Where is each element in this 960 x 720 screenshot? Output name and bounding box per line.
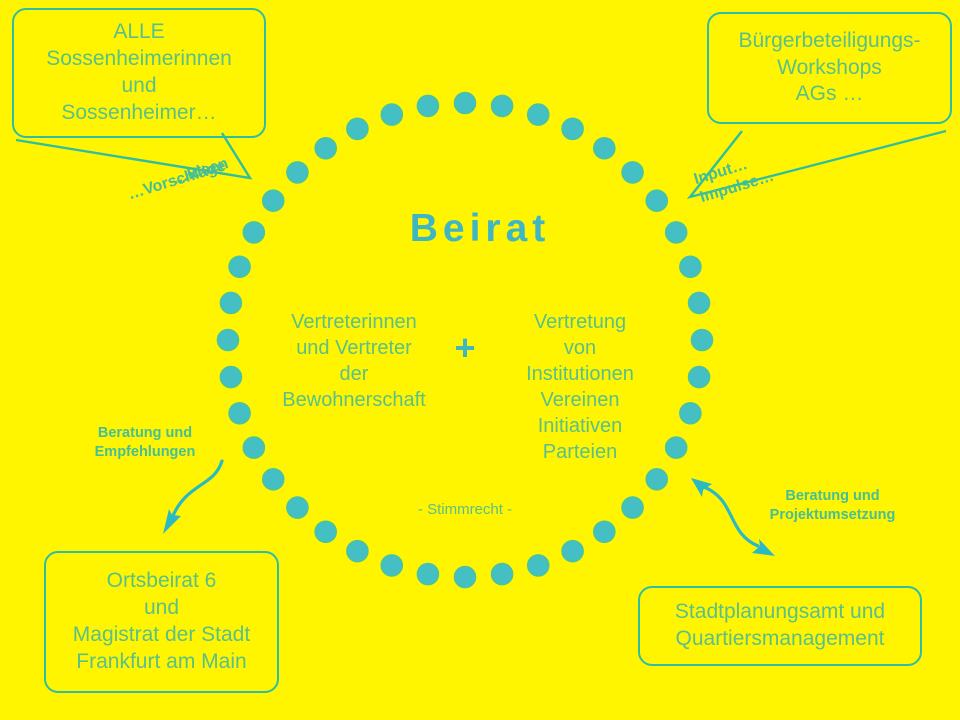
arrow-label-beratung-projektumsetzung: Beratung und Projektumsetzung [745,487,920,525]
ring-dot [562,541,583,562]
box-stadtplanungsamt-quartiersmanagement[interactable]: Stadtplanungsamt und Quartiersmanagement [638,586,922,666]
arrow-head-right-lower [752,539,775,556]
ring-dot [622,162,643,183]
ring-dot [287,497,308,518]
ring-dot [347,541,368,562]
speech-bubble-workshops[interactable]: Bürgerbeteiligungs- Workshops AGs … [707,12,952,124]
ring-dot [220,367,241,388]
page-title-beirat: Beirat [0,204,960,255]
ring-dot [455,93,476,114]
center-column-residents: Vertreterinnen und Vertreter der Bewohne… [256,309,452,413]
plus-icon: + [447,331,483,367]
ring-dot [220,292,241,313]
ring-dot [594,521,615,542]
ring-dot [646,469,667,490]
ring-dot [315,521,336,542]
diagram-canvas: ALLE Sossenheimerinnen und Sossenheimer…… [0,0,960,720]
speech-bubble-residents[interactable]: ALLE Sossenheimerinnen und Sossenheimer… [12,8,266,138]
ring-dot [689,367,710,388]
ring-dot [680,256,701,277]
ring-dot [680,403,701,424]
ring-dot [347,118,368,139]
ring-dot [229,403,250,424]
arrow-label-beratung-empfehlungen: Beratung und Empfehlungen [70,424,220,462]
box-ortsbeirat-magistrat[interactable]: Ortsbeirat 6 und Magistrat der Stadt Fra… [44,551,279,693]
center-column-institutions: Vertretung von Institutionen Vereinen In… [482,309,678,465]
ring-dot [315,138,336,159]
ring-dot [528,555,549,576]
ring-dot [417,564,438,585]
ring-dot [417,95,438,116]
ring-dot [243,437,264,458]
footnote-stimmrecht: - Stimmrecht - [335,500,595,520]
ring-dot [562,118,583,139]
ring-dot [492,95,513,116]
ring-dot [218,330,239,351]
ring-dot [692,330,713,351]
ring-dot [492,564,513,585]
ring-dot [594,138,615,159]
arrow-beratung-empfehlungen [172,461,222,518]
ring-dot [287,162,308,183]
ring-dot [689,292,710,313]
ring-dot [455,567,476,588]
ring-dot [381,555,402,576]
arrow-head-left [163,509,181,534]
ring-dot [263,469,284,490]
ring-dot [528,104,549,125]
ring-dot [381,104,402,125]
ring-dot [229,256,250,277]
ring-dot [622,497,643,518]
